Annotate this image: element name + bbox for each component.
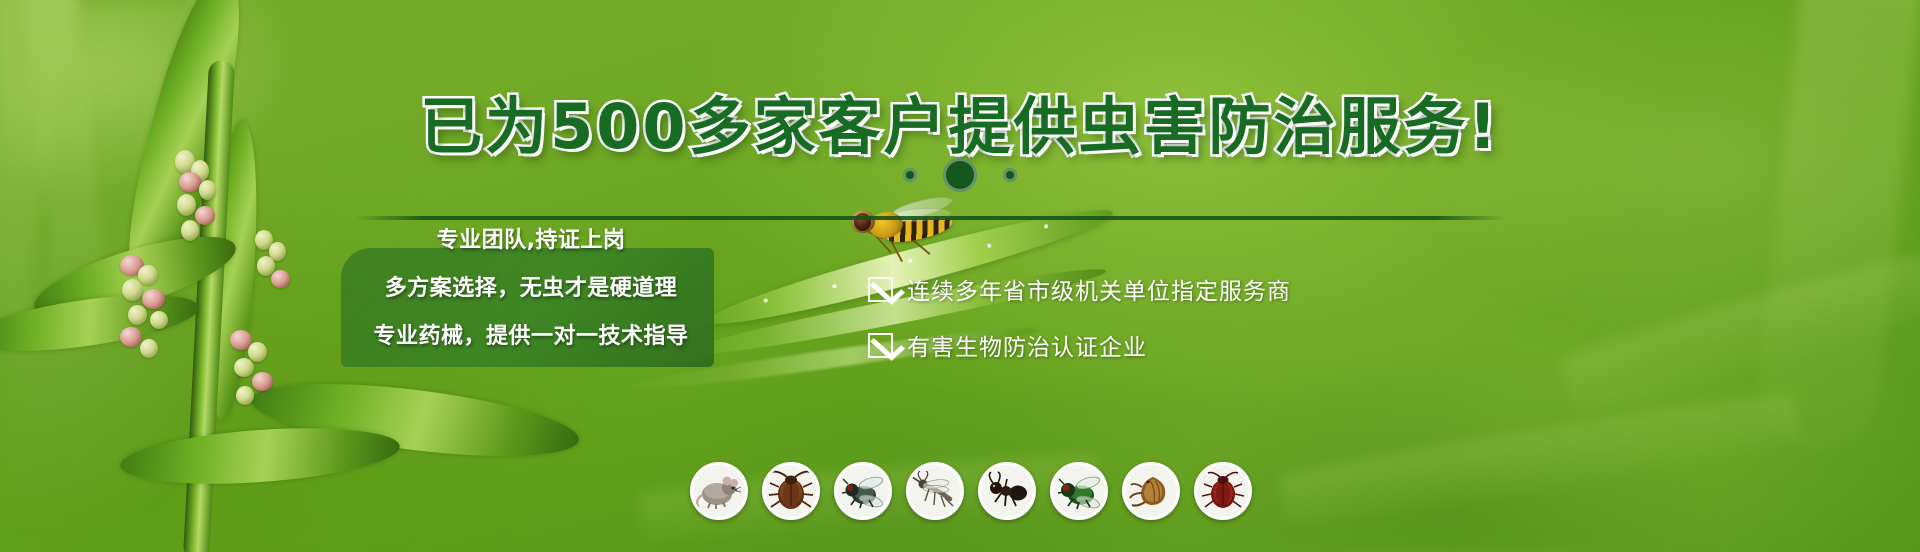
fly-icon[interactable] bbox=[834, 462, 892, 520]
pest-icon-row bbox=[690, 462, 1252, 520]
feature-label: 连续多年省市级机关单位指定服务商 bbox=[907, 272, 1291, 306]
checkbox-check-icon bbox=[868, 277, 893, 302]
bedbug-icon[interactable] bbox=[1194, 462, 1252, 520]
dot-small-right-icon bbox=[1003, 168, 1017, 182]
page-title-text: 已为500多家客户提供虫害防治服务! bbox=[420, 90, 1500, 163]
decorative-dots bbox=[0, 158, 1920, 192]
checkbox-check-icon bbox=[868, 333, 893, 358]
green-fly-icon[interactable] bbox=[1050, 462, 1108, 520]
page-title: 已为500多家客户提供虫害防治服务! bbox=[0, 76, 1920, 166]
dot-large-center-icon bbox=[943, 158, 977, 192]
pest-control-promo-banner: 已为500多家客户提供虫害防治服务! 专业团队,持证上岗 多方案选择，无虫才是硬… bbox=[0, 0, 1920, 552]
selling-points-text-group: 专业团队,持证上岗 多方案选择，无虫才是硬道理 专业药械，提供一对一技术指导 bbox=[341, 218, 721, 350]
list-item: 连续多年省市级机关单位指定服务商 bbox=[868, 272, 1291, 306]
feature-label: 有害生物防治认证企业 bbox=[907, 328, 1147, 362]
flea-icon[interactable] bbox=[1122, 462, 1180, 520]
mouse-icon[interactable] bbox=[690, 462, 748, 520]
hoverfly-icon bbox=[845, 198, 960, 258]
list-item: 有害生物防治认证企业 bbox=[868, 328, 1291, 362]
selling-point-line-1: 专业团队,持证上岗 bbox=[437, 222, 626, 254]
selling-point-line-2: 多方案选择，无虫才是硬道理 bbox=[385, 270, 678, 302]
feature-list: 连续多年省市级机关单位指定服务商 有害生物防治认证企业 bbox=[868, 272, 1291, 362]
plant-leaf bbox=[119, 420, 402, 491]
selling-point-line-3: 专业药械，提供一对一技术指导 bbox=[373, 318, 688, 350]
ant-icon[interactable] bbox=[978, 462, 1036, 520]
mosquito-icon[interactable] bbox=[906, 462, 964, 520]
dot-small-left-icon bbox=[903, 168, 917, 182]
cockroach-icon[interactable] bbox=[762, 462, 820, 520]
